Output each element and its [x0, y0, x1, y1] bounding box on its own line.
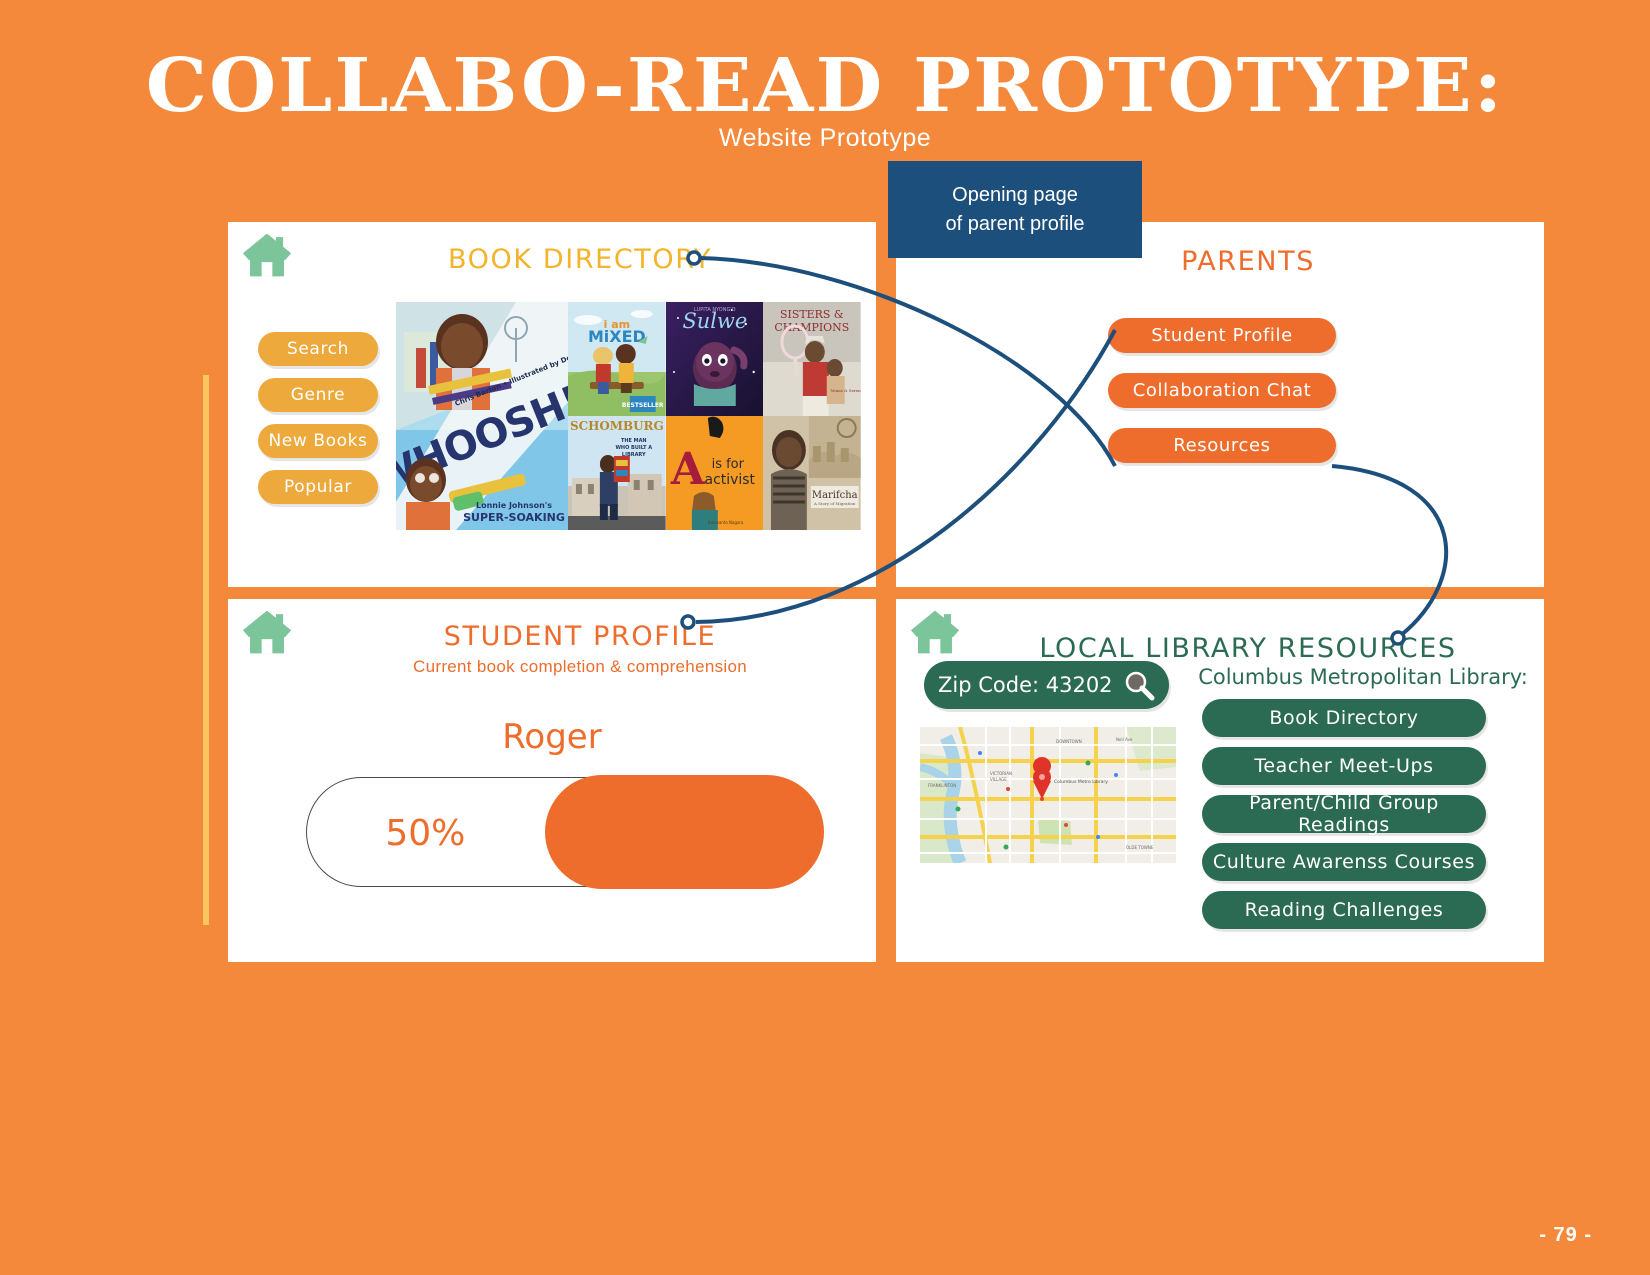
completion-progress-bar: 50% [306, 777, 814, 887]
svg-text:BESTSELLER: BESTSELLER [622, 402, 664, 409]
panel-subtitle-student-profile: Current book completion & comprehension [308, 657, 852, 677]
parents-student-profile-button[interactable]: Student Profile [1108, 318, 1336, 353]
svg-text:A: A [670, 444, 706, 495]
slide-canvas: COLLABO-READ PROTOTYPE: Website Prototyp… [0, 0, 1650, 1275]
panel-title-student-profile: STUDENT PROFILE [308, 621, 852, 652]
callout-line-1: Opening page [952, 181, 1078, 209]
page-number: - 79 - [1539, 1224, 1592, 1247]
svg-text:WHO BUILT A: WHO BUILT A [615, 445, 652, 451]
map-thumbnail[interactable]: DOWNTOWN VICTORIAN VILLAGE Neil Ave OLDE… [920, 727, 1176, 863]
library-reading-challenges-button[interactable]: Reading Challenges [1202, 891, 1486, 929]
filter-genre-button[interactable]: Genre [258, 378, 378, 412]
book-cover-i-am-mixed[interactable]: i am MiXED BESTSELLER [568, 302, 666, 416]
home-icon[interactable] [908, 607, 962, 657]
svg-text:A Story of Migration: A Story of Migration [813, 501, 856, 506]
parents-resources-button[interactable]: Resources [1108, 428, 1336, 463]
parents-collaboration-chat-button[interactable]: Collaboration Chat [1108, 373, 1336, 408]
library-teacher-meetups-button[interactable]: Teacher Meet-Ups [1202, 747, 1486, 785]
panel-title-library-resources: LOCAL LIBRARY RESOURCES [976, 633, 1520, 664]
svg-text:Venus & Serena: Venus & Serena [830, 388, 861, 393]
progress-fill [545, 775, 824, 889]
book-cover-sulwe[interactable]: Sulwe LUPITA NYONG'O [666, 302, 764, 416]
book-cover-marifcha[interactable]: Marifcha A Story of Migration [763, 416, 861, 530]
callout-opening-page: Opening page of parent profile [888, 161, 1142, 258]
book-cover-sisters-champions[interactable]: SISTERS & CHAMPIONS Venus & Serena [763, 302, 861, 416]
svg-text:SCHOMBURG: SCHOMBURG [570, 419, 664, 433]
page-subtitle: Website Prototype [0, 124, 1650, 153]
book-cover-grid: WHOOSH! Chris Barton • Illustrated by Do… [396, 302, 861, 530]
panel-book-directory: BOOK DIRECTORY Search Genre New Books Po… [228, 222, 876, 587]
svg-text:VICTORIAN: VICTORIAN [990, 771, 1012, 776]
library-group-readings-button[interactable]: Parent/Child Group Readings [1202, 795, 1486, 833]
book-cover-whoosh[interactable]: WHOOSH! Chris Barton • Illustrated by Do… [396, 302, 568, 530]
svg-text:VILLAGE: VILLAGE [990, 777, 1007, 782]
svg-text:OLDE TOWNE: OLDE TOWNE [1126, 845, 1154, 850]
panel-parents: PARENTS Student Profile Collaboration Ch… [896, 222, 1544, 587]
svg-text:is for: is for [711, 457, 744, 472]
svg-text:Marifcha: Marifcha [812, 490, 858, 501]
filter-popular-button[interactable]: Popular [258, 470, 378, 504]
zip-code-search-field[interactable]: Zip Code: 43202 [924, 661, 1169, 709]
svg-text:THE MAN: THE MAN [621, 438, 647, 444]
callout-line-2: of parent profile [946, 210, 1085, 238]
library-culture-courses-button[interactable]: Culture Awarenss Courses [1202, 843, 1486, 881]
magnifier-icon[interactable] [1123, 669, 1155, 701]
left-accent-rule [203, 375, 209, 925]
progress-percent-label: 50% [306, 813, 545, 854]
home-icon[interactable] [240, 607, 294, 657]
panel-library-resources: LOCAL LIBRARY RESOURCES Zip Code: 43202 [896, 599, 1544, 962]
book-directory-filters: Search Genre New Books Popular [258, 332, 378, 504]
book-cover-a-is-for-activist[interactable]: A is for activist Innosanto Nagara [666, 416, 764, 530]
book-cover-small-grid: i am MiXED BESTSELLER [568, 302, 861, 530]
svg-text:MiXED: MiXED [588, 327, 646, 346]
page-title: COLLABO-READ PROTOTYPE: [0, 48, 1650, 126]
svg-text:Lonnie Johnson's: Lonnie Johnson's [476, 501, 552, 510]
parents-button-stack: Student Profile Collaboration Chat Resou… [1108, 318, 1336, 463]
svg-text:Innosanto Nagara: Innosanto Nagara [708, 520, 744, 525]
library-book-directory-button[interactable]: Book Directory [1202, 699, 1486, 737]
panel-title-book-directory: BOOK DIRECTORY [308, 244, 852, 275]
svg-text:Neil Ave: Neil Ave [1116, 737, 1133, 742]
zip-code-value: Zip Code: 43202 [938, 673, 1123, 697]
library-name-label: Columbus Metropolitan Library: [1196, 665, 1530, 689]
book-cover-schomburg[interactable]: SCHOMBURG THE MAN WHO BUILT A LIBRARY [568, 416, 666, 530]
home-icon[interactable] [240, 230, 294, 280]
svg-text:DOWNTOWN: DOWNTOWN [1056, 739, 1082, 744]
student-name: Roger [228, 717, 876, 757]
panel-student-profile: STUDENT PROFILE Current book completion … [228, 599, 876, 962]
svg-text:SUPER-SOAKING: SUPER-SOAKING [463, 511, 565, 524]
filter-search-button[interactable]: Search [258, 332, 378, 366]
svg-text:activist: activist [704, 472, 755, 488]
library-button-stack: Book Directory Teacher Meet-Ups Parent/C… [1202, 699, 1486, 929]
svg-text:LUPITA NYONG'O: LUPITA NYONG'O [694, 307, 736, 313]
filter-new-books-button[interactable]: New Books [258, 424, 378, 458]
svg-text:Columbus Metro Library: Columbus Metro Library [1054, 779, 1108, 785]
svg-text:SISTERS &: SISTERS & [780, 308, 844, 321]
svg-text:FRANKLINTON: FRANKLINTON [928, 783, 956, 788]
